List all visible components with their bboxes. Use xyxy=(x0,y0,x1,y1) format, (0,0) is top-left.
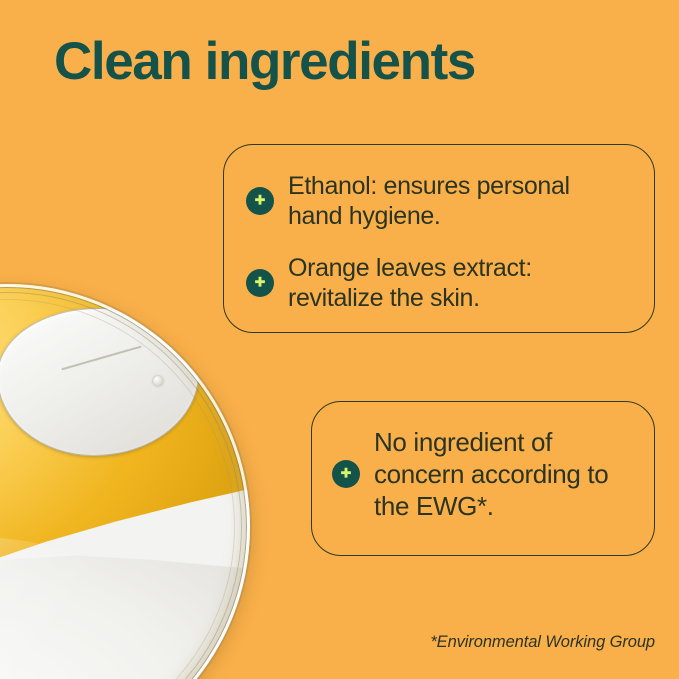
list-item: Orange leaves extract: revitalize the sk… xyxy=(246,253,628,313)
list-item-label: No ingredient of concern according to th… xyxy=(374,426,632,522)
plus-icon xyxy=(246,269,274,297)
clean-ingredients-poster: Clean ingredients Ethanol: ensures perso… xyxy=(0,0,679,679)
list-item-label: Ethanol: ensures personal hand hygiene. xyxy=(288,171,628,231)
list-item: No ingredient of concern according to th… xyxy=(332,426,632,522)
ewg-card: No ingredient of concern according to th… xyxy=(311,401,655,556)
dish-clear-glass-region xyxy=(0,546,250,679)
petri-dish-photo xyxy=(0,284,250,679)
list-item: Ethanol: ensures personal hand hygiene. xyxy=(246,171,628,231)
ingredients-card: Ethanol: ensures personal hand hygiene. … xyxy=(223,144,655,333)
plus-icon xyxy=(332,460,360,488)
list-item-label: Orange leaves extract: revitalize the sk… xyxy=(288,253,628,313)
plus-icon xyxy=(246,187,274,215)
footnote: *Environmental Working Group xyxy=(430,633,655,652)
page-title: Clean ingredients xyxy=(54,33,475,91)
